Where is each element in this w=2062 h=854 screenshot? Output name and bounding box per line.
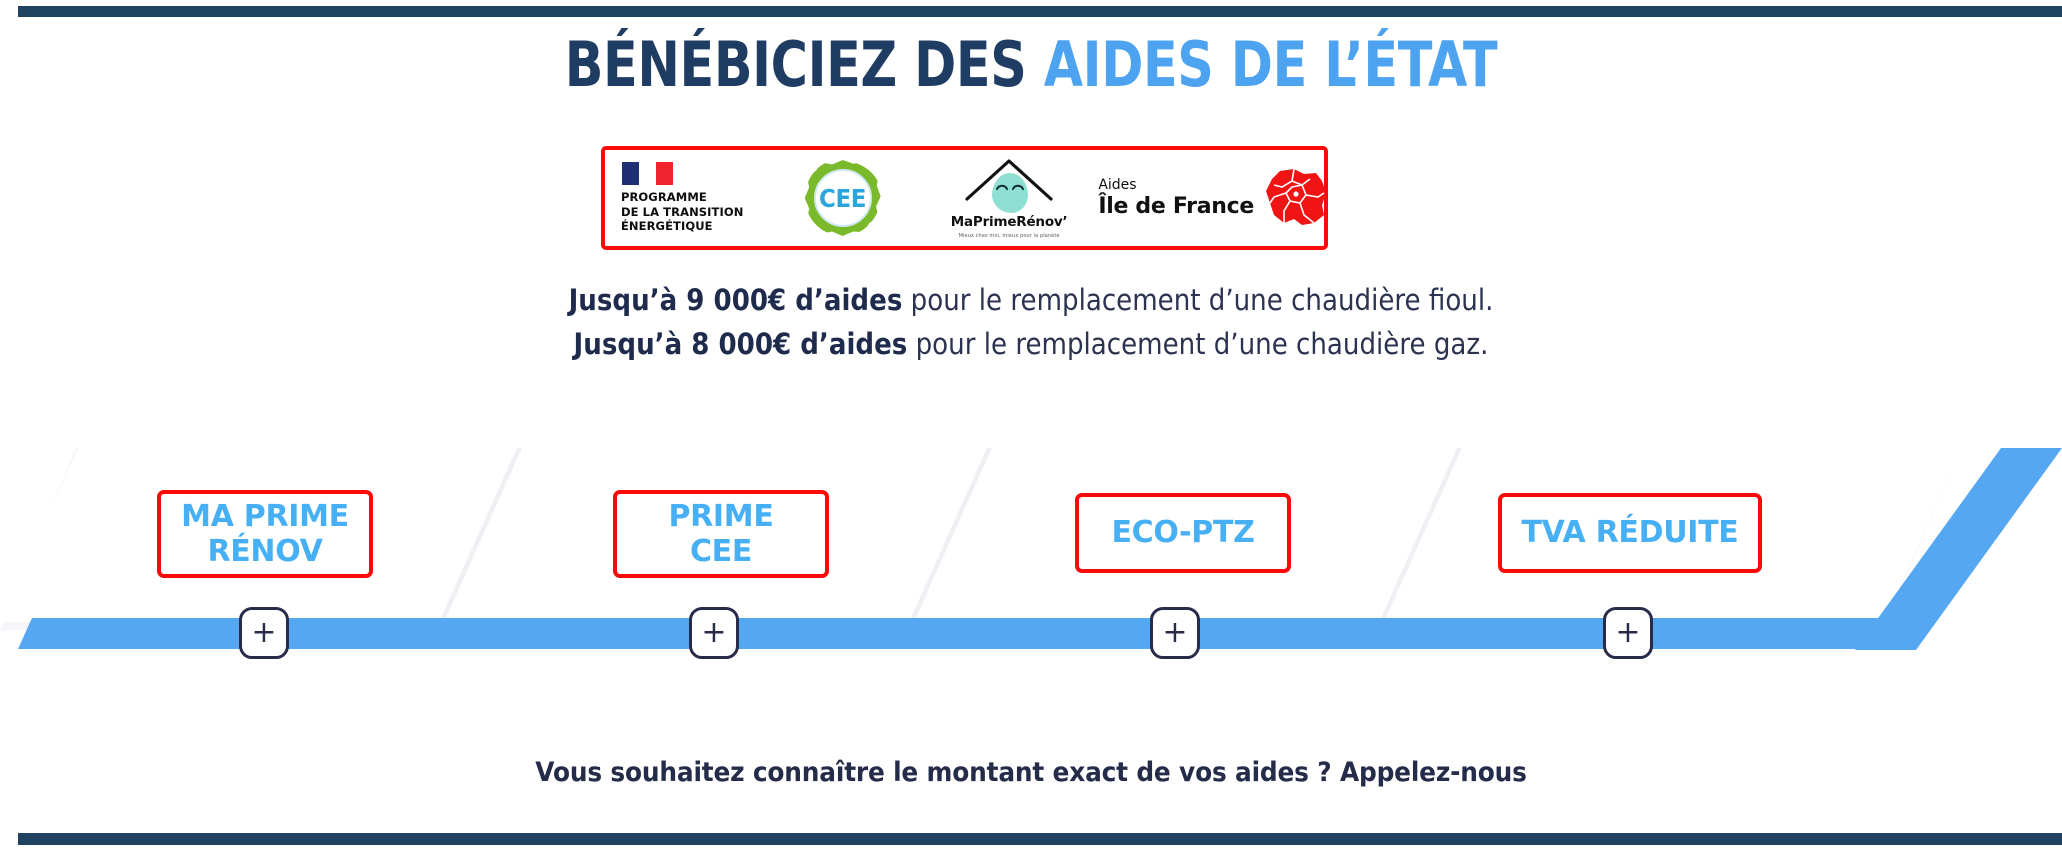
programme-line-2: DE LA TRANSITION	[621, 205, 744, 220]
aids-ribbon: MA PRIME RÉNOV PRIME CEE ECO-PTZ TVA RÉD…	[0, 448, 2062, 660]
cee-badge-icon: CEE	[805, 160, 881, 236]
expand-button-ma-prime-renov[interactable]: +	[239, 607, 289, 659]
page-title: BÉNÉBICIEZ DES AIDES DE L’ÉTAT	[186, 32, 1877, 97]
expand-button-prime-cee[interactable]: +	[689, 607, 739, 659]
maprimerenov-house-icon	[963, 157, 1055, 213]
aid-card-prime-cee[interactable]: PRIME CEE	[613, 490, 829, 578]
cee-label: CEE	[819, 184, 866, 213]
programme-line-3: ÉNERGÉTIQUE	[621, 219, 744, 234]
aid-card-tva-reduite[interactable]: TVA RÉDUITE	[1498, 493, 1762, 573]
ile-de-france-map-icon	[1260, 167, 1330, 229]
smiling-eyes-icon	[996, 180, 1024, 192]
aid-card-ma-prime-renov[interactable]: MA PRIME RÉNOV	[157, 490, 373, 578]
partner-logos-strip: PROGRAMME DE LA TRANSITION ÉNERGÉTIQUE C…	[601, 146, 1328, 250]
logo-maprimerenov: MaPrimeRénov’ Mieux chez moi, mieux pour…	[930, 150, 1092, 246]
offer-line-gaz: Jusqu’à 8 000€ d’aides pour le remplacem…	[103, 322, 1959, 366]
idf-big-label: Île de France	[1098, 195, 1254, 218]
logo-cee: CEE	[767, 150, 929, 246]
expand-button-eco-ptz[interactable]: +	[1150, 607, 1200, 659]
logo-aides-ile-de-france: Aides Île de France	[1092, 150, 1324, 246]
logo-programme-transition-energetique: PROGRAMME DE LA TRANSITION ÉNERGÉTIQUE	[605, 150, 767, 246]
contact-question: Vous souhaitez connaître le montant exac…	[82, 757, 1979, 788]
offer-line-fioul: Jusqu’à 9 000€ d’aides pour le remplacem…	[103, 278, 1959, 322]
aid-card-eco-ptz[interactable]: ECO-PTZ	[1075, 493, 1291, 573]
promo-page: BÉNÉBICIEZ DES AIDES DE L’ÉTAT PROGRAMME…	[0, 0, 2062, 854]
top-navy-rule	[18, 6, 2062, 17]
offer-fioul-text: pour le remplacement d’une chaudière fio…	[902, 283, 1493, 317]
page-title-light: AIDES DE L’ÉTAT	[1044, 28, 1498, 101]
french-flag-icon	[622, 162, 673, 185]
programme-line-1: PROGRAMME	[621, 190, 744, 205]
idf-small-label: Aides	[1098, 178, 1136, 193]
offer-gaz-text: pour le remplacement d’une chaudière gaz…	[907, 327, 1488, 361]
offer-fioul-amount: Jusqu’à 9 000€ d’aides	[569, 283, 903, 317]
bottom-navy-rule	[18, 833, 2062, 845]
maprimerenov-name: MaPrimeRénov’	[951, 214, 1068, 230]
offers-block: Jusqu’à 9 000€ d’aides pour le remplacem…	[0, 278, 2062, 366]
expand-button-tva-reduite[interactable]: +	[1603, 607, 1653, 659]
maprimerenov-tagline: Mieux chez moi, mieux pour la planète	[959, 233, 1060, 239]
page-title-dark: BÉNÉBICIEZ DES	[565, 28, 1044, 101]
offer-gaz-amount: Jusqu’à 8 000€ d’aides	[574, 327, 908, 361]
